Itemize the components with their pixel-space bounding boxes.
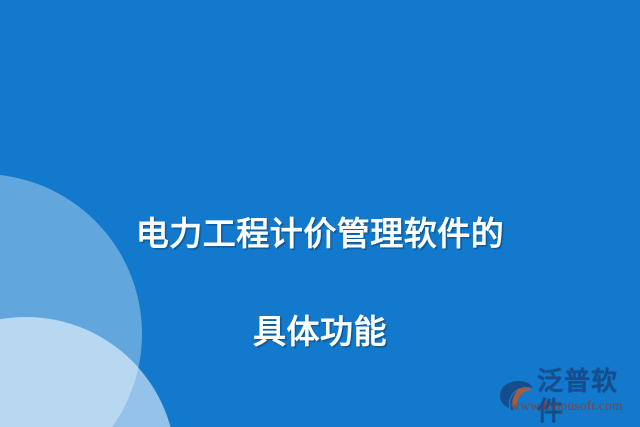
brand-url: www.fanpusoft.com [510,398,623,414]
promo-banner: 电力工程计价管理软件的 具体功能 泛普软件 www.fanpusoft.com [0,0,640,427]
headline-line-2: 具体功能 [0,307,640,356]
brand-name: 泛普软件 [537,366,638,426]
brand-watermark: 泛普软件 www.fanpusoft.com [498,366,638,418]
brand-logo-row: 泛普软件 [498,366,638,426]
headline-line-1: 电力工程计价管理软件的 [0,209,640,258]
